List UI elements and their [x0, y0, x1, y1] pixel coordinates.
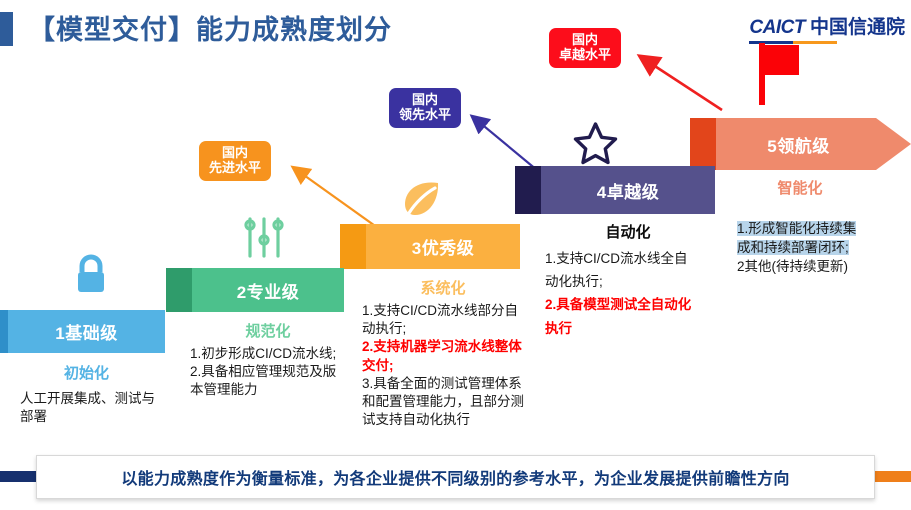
flag-icon — [757, 43, 801, 110]
step-3-desc-line-4: 交付; — [362, 357, 542, 375]
step-3-desc-line-1: 1.支持CI/CD流水线部分自 — [362, 302, 542, 320]
slide-canvas: 【模型交付】能力成熟度划分 CAICT 中国信通院 国内 先进水平 国内 — [0, 0, 911, 510]
step-block-1[interactable]: 1基础级 — [8, 310, 165, 353]
step-3-label: 3优秀级 — [366, 224, 520, 269]
leaf-icon — [400, 180, 442, 225]
step-4-side-face — [515, 166, 541, 214]
step-4-label: 4卓越级 — [541, 166, 715, 214]
badge-leading-line1: 国内 — [399, 93, 451, 108]
step-2-label: 2专业级 — [192, 268, 344, 312]
step-2-desc-line-3: 本管理能力 — [190, 381, 355, 399]
step-3-subtitle: 系统化 — [366, 277, 520, 298]
step-5-subtitle: 智能化 — [716, 177, 884, 198]
step-3-description: 1.支持CI/CD流水线部分自 动执行; 2.支持机器学习流水线整体 交付; 3… — [362, 302, 542, 430]
step-1-subtitle: 初始化 — [8, 362, 165, 383]
step-block-5[interactable]: 5领航级 — [716, 118, 911, 170]
step-1-side-face — [0, 310, 8, 353]
badge-excellent-line1: 国内 — [559, 33, 611, 48]
step-2-subtitle: 规范化 — [192, 320, 344, 341]
footer-text: 以能力成熟度作为衡量标准，为各企业提供不同级别的参考水平，为企业发展提供前瞻性方… — [121, 465, 789, 489]
step-4-desc-line-1: 1.支持CI/CD流水线全自 — [545, 247, 720, 270]
step-4-desc-line-3: 2.具备模型测试全自动化 — [545, 293, 720, 316]
step-block-4[interactable]: 4卓越级 — [541, 166, 715, 214]
step-3-desc-line-5: 3.具备全面的测试管理体系 — [362, 375, 542, 393]
step-2-description: 1.初步形成CI/CD流水线; 2.具备相应管理规范及版 本管理能力 — [190, 345, 355, 400]
badge-leading-level[interactable]: 国内 领先水平 — [389, 88, 461, 128]
star-icon — [573, 121, 618, 170]
footer-right-bar — [869, 471, 911, 482]
step-5-description: 1.形成智能化持续集 成和持续部署闭环; 2其他(待持续更新) — [737, 219, 902, 276]
badge-advanced-level[interactable]: 国内 先进水平 — [199, 141, 271, 181]
step-block-2[interactable]: 2专业级 — [192, 268, 344, 312]
step-3-desc-line-6: 和配置管理能力，且部分测 — [362, 393, 542, 411]
step-2-side-face — [166, 268, 192, 312]
step-3-desc-line-3: 2.支持机器学习流水线整体 — [362, 338, 542, 356]
step-block-3[interactable]: 3优秀级 — [366, 224, 520, 269]
step-1-description: 人工开展集成、测试与 部署 — [20, 390, 180, 426]
sliders-icon — [243, 216, 285, 265]
step-1-label: 1基础级 — [8, 310, 165, 353]
badge-advanced-line2: 先进水平 — [209, 161, 261, 176]
step-4-desc-line-2: 动化执行; — [545, 270, 720, 293]
step-4-description: 1.支持CI/CD流水线全自 动化执行; 2.具备模型测试全自动化 执行 — [545, 247, 720, 340]
step-5-desc-line-2: 成和持续部署闭环; — [737, 238, 902, 257]
badge-excellent-level[interactable]: 国内 卓越水平 — [549, 28, 621, 68]
lock-icon — [73, 252, 109, 303]
step-3-desc-line-7: 试支持自动化执行 — [362, 411, 542, 429]
step-5-side-face — [690, 118, 716, 170]
step-3-side-face — [340, 224, 366, 269]
step-5-desc-line-1: 1.形成智能化持续集 — [737, 219, 902, 238]
badge-excellent-line2: 卓越水平 — [559, 48, 611, 63]
step-4-desc-line-4: 执行 — [545, 317, 720, 340]
step-3-desc-line-2: 动执行; — [362, 320, 542, 338]
step-2-desc-line-1: 1.初步形成CI/CD流水线; — [190, 345, 355, 363]
step-5-label: 5领航级 — [716, 118, 911, 170]
step-2-desc-line-2: 2.具备相应管理规范及版 — [190, 363, 355, 381]
badge-leading-line2: 领先水平 — [399, 108, 451, 123]
step-4-subtitle: 自动化 — [541, 221, 715, 242]
step-1-desc-line-2: 部署 — [20, 408, 180, 426]
step-1-desc-line-1: 人工开展集成、测试与 — [20, 390, 180, 408]
footer-banner: 以能力成熟度作为衡量标准，为各企业提供不同级别的参考水平，为企业发展提供前瞻性方… — [36, 455, 875, 499]
badge-advanced-line1: 国内 — [209, 146, 261, 161]
step-5-desc-line-3: 2其他(待持续更新) — [737, 257, 902, 276]
